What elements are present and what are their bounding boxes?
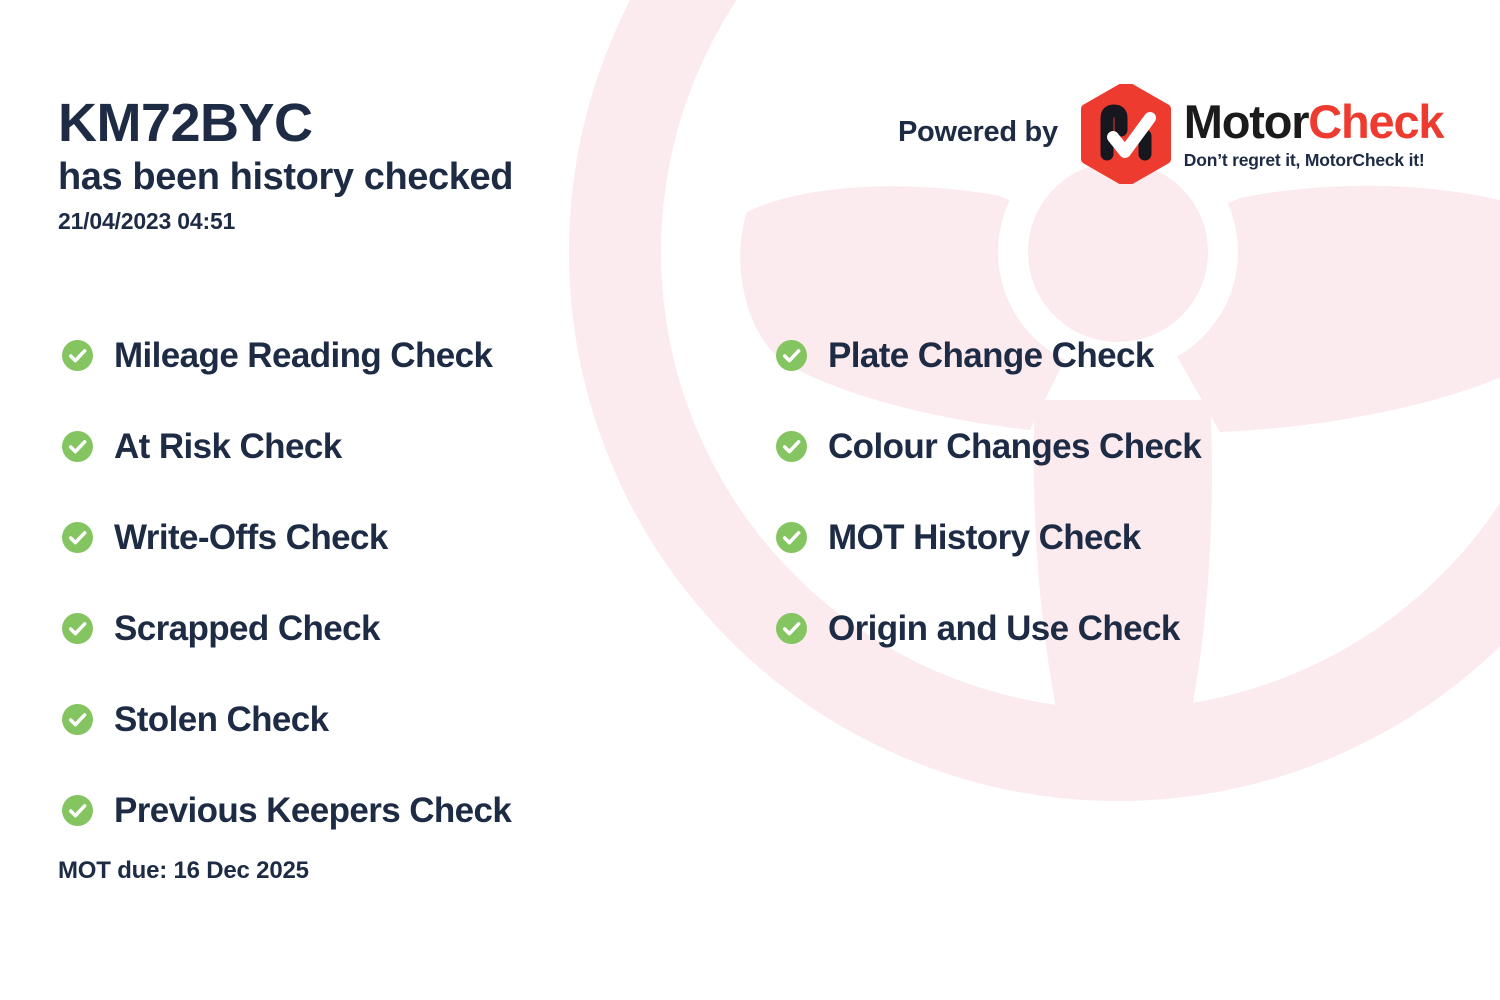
list-item: MOT History Check [776,492,1201,583]
check-item-label: Origin and Use Check [828,609,1180,649]
list-item: Stolen Check [62,674,511,765]
check-circle-icon [62,522,93,553]
check-item-label: Stolen Check [114,700,329,740]
check-circle-icon [62,795,93,826]
list-item: Mileage Reading Check [62,310,511,401]
check-item-label: Scrapped Check [114,609,380,649]
list-item: Scrapped Check [62,583,511,674]
check-circle-icon [62,340,93,371]
check-circle-icon [776,340,807,371]
motorcheck-logo[interactable]: MotorCheck Don’t regret it, MotorCheck i… [1080,84,1444,184]
check-item-label: At Risk Check [114,427,342,467]
motorcheck-tagline: Don’t regret it, MotorCheck it! [1184,150,1425,171]
motorcheck-hexagon-icon [1080,84,1172,184]
check-item-label: MOT History Check [828,518,1141,558]
check-status-headline: has been history checked [58,154,818,202]
list-item: Plate Change Check [776,310,1201,401]
check-item-label: Colour Changes Check [828,427,1201,467]
wordmark-motor: Motor [1184,95,1309,148]
check-item-label: Previous Keepers Check [114,791,511,831]
wordmark-check: Check [1308,95,1443,148]
check-timestamp: 21/04/2023 04:51 [58,208,818,235]
list-item: Colour Changes Check [776,401,1201,492]
check-item-label: Mileage Reading Check [114,336,492,376]
checklist-left-column: Mileage Reading Check At Risk Check Writ… [62,310,511,856]
list-item: Previous Keepers Check [62,765,511,856]
list-item: At Risk Check [62,401,511,492]
list-item: Write-Offs Check [62,492,511,583]
check-item-label: Plate Change Check [828,336,1154,376]
list-item: Origin and Use Check [776,583,1201,674]
powered-by-block: Powered by MotorCheck Don’t regret it, M… [898,84,1443,184]
check-circle-icon [776,431,807,462]
checklist-right-column: Plate Change Check Colour Changes Check … [776,310,1201,674]
header-block: KM72BYC has been history checked 21/04/2… [58,96,818,235]
motorcheck-wordmark-block: MotorCheck Don’t regret it, MotorCheck i… [1184,98,1444,171]
check-circle-icon [62,613,93,644]
motorcheck-wordmark: MotorCheck [1184,98,1444,145]
check-circle-icon [776,613,807,644]
check-circle-icon [62,431,93,462]
powered-by-label: Powered by [898,116,1058,153]
check-item-label: Write-Offs Check [114,518,388,558]
check-circle-icon [776,522,807,553]
vehicle-history-check-card: KM72BYC has been history checked 21/04/2… [0,0,1500,1000]
mot-due-note: MOT due: 16 Dec 2025 [58,857,309,885]
check-circle-icon [62,704,93,735]
vehicle-registration: KM72BYC [58,96,818,151]
